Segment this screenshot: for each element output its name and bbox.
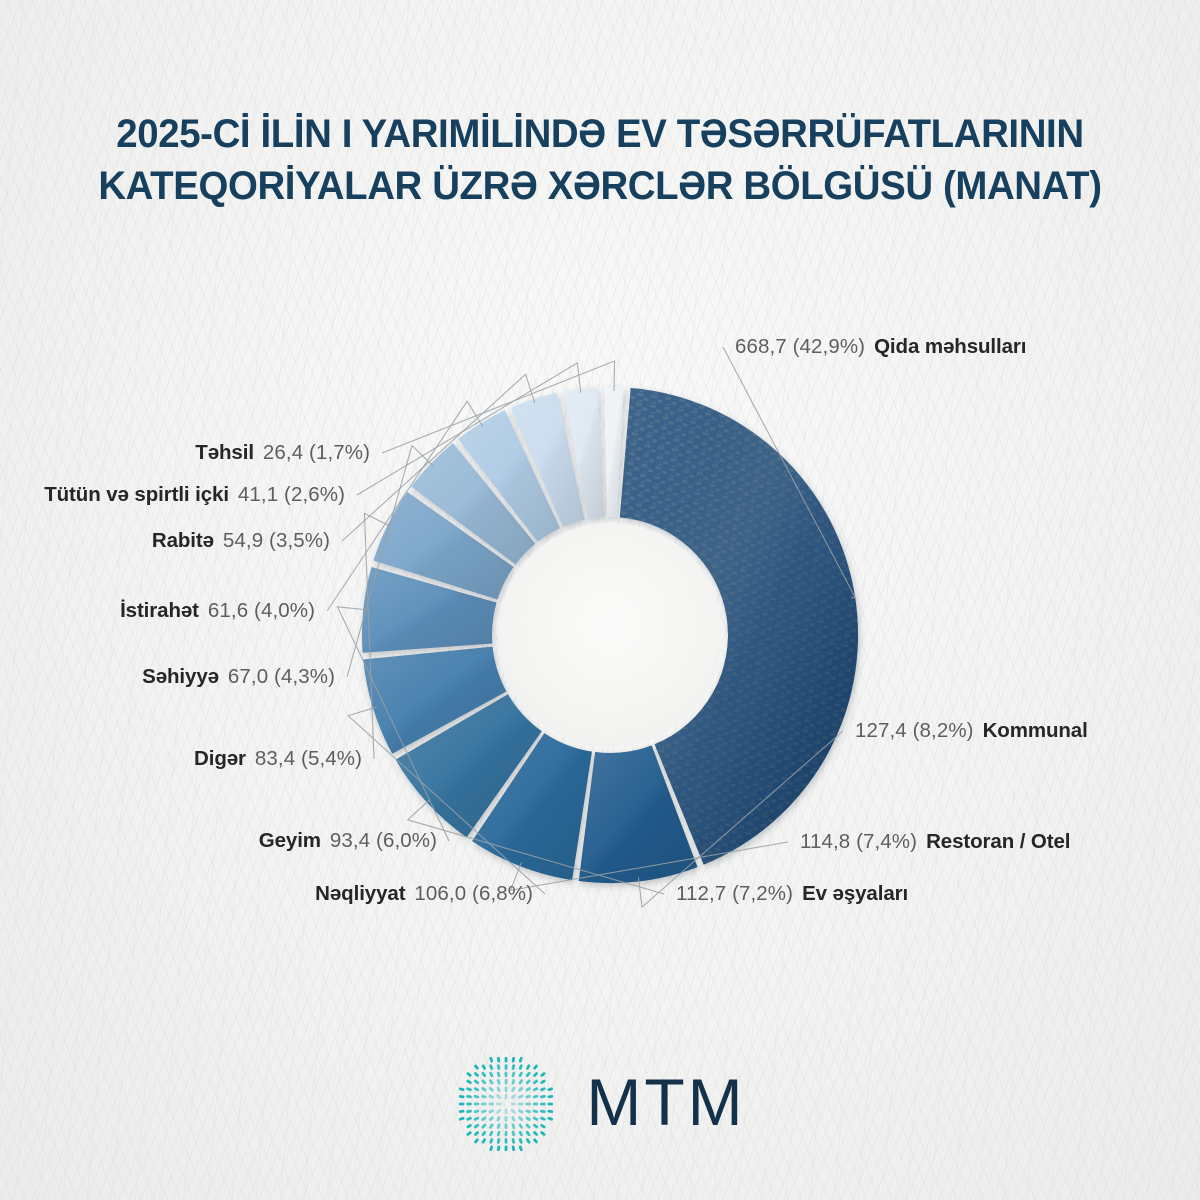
- logo-ray-dash: [489, 1145, 493, 1151]
- slice-label: Tütün və spirtli içki41,1 (2,6%): [0, 484, 345, 506]
- logo-ray-dash: [474, 1131, 480, 1137]
- logo-ray-dash: [533, 1123, 539, 1129]
- logo-ray-dash: [459, 1087, 465, 1091]
- logo-ray-dash: [518, 1109, 524, 1114]
- logo-ray-dash: [481, 1094, 487, 1098]
- logo-ray-dash: [511, 1086, 516, 1092]
- page-title: 2025-Cİ İLİN I YARIMİLİNDƏ EV TƏSƏRRÜFAT…: [0, 108, 1200, 212]
- slice-label: 114,8 (7,4%)Restoran / Otel: [800, 831, 1070, 853]
- logo-ray-dash: [481, 1071, 487, 1077]
- logo-ray-dash: [489, 1123, 494, 1129]
- logo-ray-dash: [474, 1079, 480, 1085]
- logo-ray-dash: [533, 1071, 539, 1077]
- logo-ray-dash: [505, 1138, 508, 1144]
- logo-ray-dash: [526, 1123, 532, 1129]
- logo-ray-dash: [526, 1079, 532, 1085]
- logo-ray-dash: [496, 1108, 502, 1114]
- logo-ray-dash: [526, 1071, 532, 1077]
- slice-label: Rabitə54,9 (3,5%): [0, 530, 330, 552]
- logo-ray-dash: [540, 1087, 546, 1092]
- logo-ray-dash: [511, 1108, 517, 1114]
- logo-ray-dash: [518, 1123, 523, 1129]
- logo-ray-dash: [526, 1130, 532, 1136]
- logo-ray-dash: [488, 1109, 494, 1114]
- logo-ray-dash: [548, 1117, 554, 1121]
- logo-ray-dash: [474, 1064, 480, 1070]
- logo-ray-dash: [519, 1130, 524, 1136]
- logo-ray-dash: [497, 1145, 501, 1151]
- slice-label: 668,7 (42,9%)Qida məhsulları: [735, 336, 1026, 358]
- slice-label-value: 114,8 (7,4%): [800, 830, 917, 853]
- logo-ray-dash: [512, 1130, 516, 1136]
- logo-ray-dash: [505, 1086, 508, 1092]
- logo-ray-dash: [474, 1123, 480, 1129]
- logo-ray-dash: [481, 1109, 487, 1113]
- logo-ray-dash: [505, 1116, 508, 1122]
- logo-ray-dash: [505, 1072, 508, 1078]
- logo-ray-dash: [533, 1064, 539, 1070]
- slice-label-value: 41,1 (2,6%): [238, 483, 345, 506]
- logo-ray-dash: [540, 1072, 546, 1078]
- logo-ray-dash: [496, 1103, 502, 1106]
- logo-ray-dash: [481, 1116, 487, 1121]
- logo-ray-dash: [512, 1138, 516, 1144]
- logo-ray-dash: [496, 1086, 501, 1092]
- logo-ray-dash: [459, 1117, 465, 1121]
- logo-ray-dash: [505, 1094, 508, 1100]
- slice-label-value: 112,7 (7,2%): [676, 882, 793, 905]
- logo-ray-dash: [540, 1095, 546, 1099]
- logo-ray-dash: [512, 1123, 516, 1129]
- logo-ray-dash: [540, 1131, 546, 1137]
- infographic-page: 2025-Cİ İLİN I YARIMİLİNDƏ EV TƏSƏRRÜFAT…: [0, 0, 1200, 1200]
- slice-label: Geyim93,4 (6,0%): [0, 830, 437, 852]
- donut-center-hole: [498, 523, 722, 747]
- logo-ray-dash: [525, 1116, 531, 1121]
- logo-ray-dash: [497, 1138, 501, 1144]
- logo-ray-dash: [467, 1103, 473, 1106]
- slice-label-value: 83,4 (5,4%): [255, 747, 362, 770]
- logo-ray-dash: [533, 1109, 539, 1113]
- brand-wordmark: MTM: [586, 1069, 745, 1135]
- slice-label-category: Tütün və spirtli içki: [44, 483, 229, 506]
- logo-ray-dash: [526, 1064, 531, 1070]
- logo-ray-dash: [474, 1087, 480, 1092]
- logo-ray-dash: [489, 1086, 495, 1092]
- slice-label-value: 668,7 (42,9%): [735, 335, 865, 358]
- logo-ray-dash: [489, 1103, 495, 1106]
- logo-ray-dash: [474, 1109, 480, 1113]
- logo-ray-dash: [489, 1064, 494, 1070]
- logo-ray-dash: [489, 1071, 494, 1077]
- logo-ray-dash: [459, 1103, 465, 1106]
- logo-ray-dash: [533, 1103, 539, 1106]
- logo-ray-dash: [533, 1095, 539, 1099]
- logo-ray-dash: [488, 1094, 494, 1099]
- logo-ray-dash: [489, 1079, 494, 1085]
- logo-ray-dash: [481, 1123, 487, 1129]
- logo-ray-dash: [497, 1079, 501, 1085]
- slice-label: 112,7 (7,2%)Ev əşyaları: [676, 883, 908, 905]
- logo-ray-dash: [481, 1103, 487, 1106]
- logo-ray-dash: [525, 1109, 531, 1113]
- slice-label-category: Geyim: [259, 829, 321, 852]
- logo-ray-dash: [474, 1095, 480, 1099]
- slice-label: Təhsil26,4 (1,7%): [0, 442, 370, 464]
- logo-ray-dash: [505, 1109, 508, 1115]
- logo-ray-dash: [526, 1103, 532, 1106]
- logo-ray-dash: [511, 1103, 517, 1106]
- logo-ray-dash: [497, 1071, 501, 1077]
- logo-ray-dash: [525, 1087, 531, 1092]
- slice-label-category: Digər: [194, 747, 246, 770]
- logo-ray-dash: [505, 1131, 508, 1137]
- slice-label-category: İstirahət: [120, 599, 199, 622]
- slice-label-value: 61,6 (4,0%): [208, 599, 315, 622]
- logo-ray-dash: [466, 1095, 472, 1099]
- logo-ray-dash: [511, 1116, 516, 1122]
- slice-label-value: 93,4 (6,0%): [330, 829, 437, 852]
- slice-label: 127,4 (8,2%)Kommunal: [855, 720, 1088, 742]
- logo-ray-dash: [518, 1116, 524, 1122]
- slice-sheen: [604, 387, 624, 517]
- logo-ray-dash: [497, 1057, 501, 1063]
- slice-label-value: 67,0 (4,3%): [228, 665, 335, 688]
- logo-ray-dash: [533, 1138, 539, 1144]
- logo-ray-dash: [512, 1145, 516, 1151]
- logo-ray-dash: [489, 1138, 494, 1144]
- logo-ray-dash: [512, 1064, 516, 1070]
- logo-ray-dash: [466, 1124, 472, 1129]
- slice-label: İstirahət61,6 (4,0%): [0, 600, 315, 622]
- logo-ray-dash: [474, 1116, 480, 1121]
- logo-ray-dash: [518, 1086, 524, 1092]
- logo-ray-dash: [548, 1087, 554, 1091]
- logo-ray-dash: [519, 1145, 523, 1151]
- logo-ray-dash: [518, 1103, 524, 1106]
- logo-ray-dash: [497, 1123, 501, 1129]
- logo-ray-dash: [533, 1131, 539, 1137]
- logo-ray-dash: [518, 1079, 523, 1085]
- logo-ray-dash: [505, 1057, 508, 1063]
- logo-ray-dash: [505, 1123, 508, 1129]
- logo-ray-dash: [489, 1130, 494, 1136]
- logo-ray-dash: [474, 1103, 480, 1106]
- logo-ray-dash: [548, 1103, 554, 1106]
- logo-ray-dash: [533, 1079, 539, 1085]
- logo-ray-dash: [540, 1103, 546, 1106]
- slice-label: Digər83,4 (5,4%): [0, 748, 362, 770]
- logo-ray-dash: [466, 1087, 472, 1092]
- logo-ray-dash: [489, 1116, 495, 1122]
- logo-ray-dash: [474, 1138, 480, 1144]
- slice-label-value: 127,4 (8,2%): [855, 719, 974, 742]
- logo-ray-dash: [497, 1130, 501, 1136]
- slice-label-category: Ev əşyaları: [802, 882, 908, 905]
- logo-ray-dash: [512, 1057, 516, 1063]
- mtm-radial-burst-logo-icon: [454, 1052, 558, 1156]
- logo-ray-dash: [459, 1110, 465, 1114]
- logo-ray-dash: [512, 1071, 516, 1077]
- slice-label-category: Rabitə: [152, 529, 214, 552]
- logo-ray-dash: [533, 1087, 539, 1092]
- logo-ray-dash: [519, 1064, 524, 1070]
- slice-label-category: Nəqliyyat: [315, 882, 405, 905]
- logo-ray-dash: [466, 1079, 472, 1084]
- slice-label-category: Kommunal: [983, 719, 1088, 742]
- logo-ray-dash: [482, 1138, 487, 1144]
- logo-ray-dash: [481, 1079, 487, 1085]
- logo-ray-dash: [482, 1064, 487, 1070]
- logo-ray-dash: [526, 1138, 531, 1144]
- logo-ray-dash: [540, 1116, 546, 1121]
- logo-ray-dash: [518, 1094, 524, 1099]
- logo-ray-dash: [540, 1109, 546, 1113]
- logo-ray-dash: [548, 1110, 554, 1114]
- logo-ray-dash: [481, 1087, 487, 1092]
- logo-ray-dash: [525, 1094, 531, 1098]
- logo-ray-dash: [548, 1095, 554, 1099]
- title-line-1: 2025-Cİ İLİN I YARIMİLİNDƏ EV TƏSƏRRÜFAT…: [24, 108, 1176, 160]
- logo-ray-dash: [512, 1079, 516, 1085]
- slice-label-value: 26,4 (1,7%): [263, 441, 370, 464]
- logo-ray-dash: [496, 1094, 502, 1100]
- slice-label-category: Təhsil: [195, 441, 254, 464]
- logo-ray-dash: [519, 1057, 523, 1063]
- slice-label-value: 106,0 (6,8%): [414, 882, 533, 905]
- logo-ray-dash: [496, 1116, 501, 1122]
- slice-label: Nəqliyyat106,0 (6,8%): [0, 883, 533, 905]
- slice-label-category: Qida məhsulları: [874, 335, 1026, 358]
- slice-label: Səhiyyə67,0 (4,3%): [0, 666, 335, 688]
- logo-ray-dash: [466, 1131, 472, 1137]
- logo-ray-dash: [459, 1095, 465, 1099]
- slice-label-category: Restoran / Otel: [926, 830, 1070, 853]
- logo-ray-dash: [489, 1057, 493, 1063]
- logo-ray-dash: [505, 1064, 508, 1070]
- logo-ray-dash: [466, 1072, 472, 1078]
- logo-ray-dash: [474, 1071, 480, 1077]
- logo-ray-dash: [540, 1079, 546, 1084]
- logo-ray-dash: [533, 1116, 539, 1121]
- logo-ray-dash: [505, 1079, 508, 1085]
- logo-ray-dash: [519, 1071, 524, 1077]
- logo-ray-dash: [466, 1116, 472, 1121]
- logo-ray-dash: [497, 1064, 501, 1070]
- logo-ray-dash: [481, 1130, 487, 1136]
- slice-label-category: Səhiyyə: [142, 665, 219, 688]
- logo-ray-dash: [511, 1094, 517, 1100]
- logo-ray-dash: [519, 1138, 524, 1144]
- slice-label-value: 54,9 (3,5%): [223, 529, 330, 552]
- logo-ray-dash: [466, 1109, 472, 1113]
- title-line-2: KATEQORİYALAR ÜZRƏ XƏRCLƏR BÖLGÜSÜ (MANA…: [24, 160, 1176, 212]
- logo-ray-dash: [505, 1145, 508, 1151]
- logo-ray-dash: [540, 1124, 546, 1129]
- footer-branding: MTM: [0, 1044, 1200, 1164]
